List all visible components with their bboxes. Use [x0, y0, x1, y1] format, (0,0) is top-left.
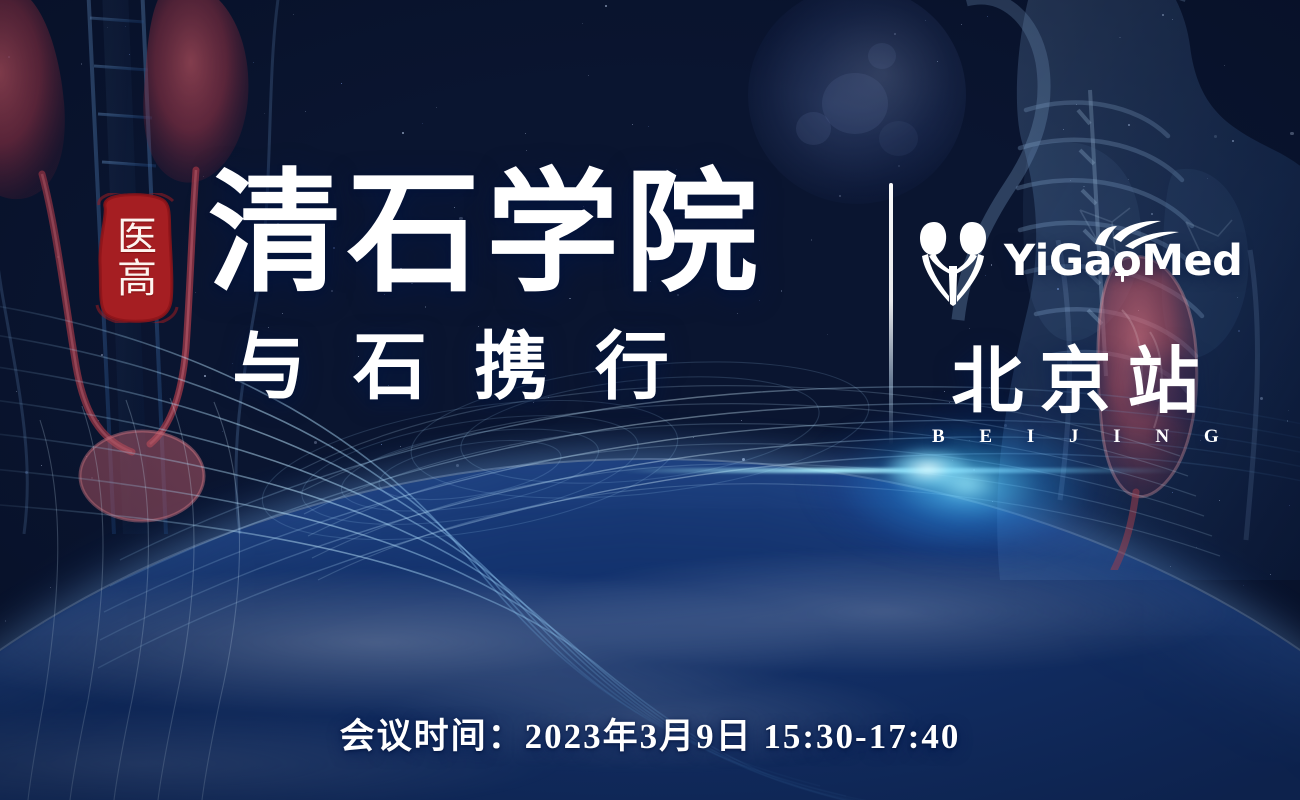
poster-canvas: 医 高 清石学院 与石携行 — [0, 0, 1300, 800]
page-title: 清石学院 — [208, 168, 764, 301]
brand-wordmark: YiGaoMed — [1004, 240, 1242, 283]
seal-char-2: 高 — [117, 260, 157, 298]
seal-char-1: 医 — [117, 218, 157, 256]
meeting-time-label: 会议时间：2023年3月9日 15:30-17:40 — [0, 708, 1300, 759]
city-name-cn: 北京站 — [917, 345, 1234, 417]
kidney-ureter-logo-icon — [916, 216, 990, 306]
page-subtitle: 与石携行 — [232, 330, 764, 404]
city-block: 北京站 B E I J I N G — [917, 345, 1234, 448]
vertical-divider — [889, 183, 893, 445]
city-name-en: B E I J I N G — [917, 426, 1234, 448]
swoosh-icon — [1089, 218, 1181, 252]
medical-cross-icon — [1114, 267, 1130, 283]
medical-seal-stamp: 医 高 — [93, 193, 181, 323]
title-block: 清石学院 与石携行 — [208, 168, 764, 404]
brand-lockup: YiGaoMed — [916, 216, 1242, 306]
